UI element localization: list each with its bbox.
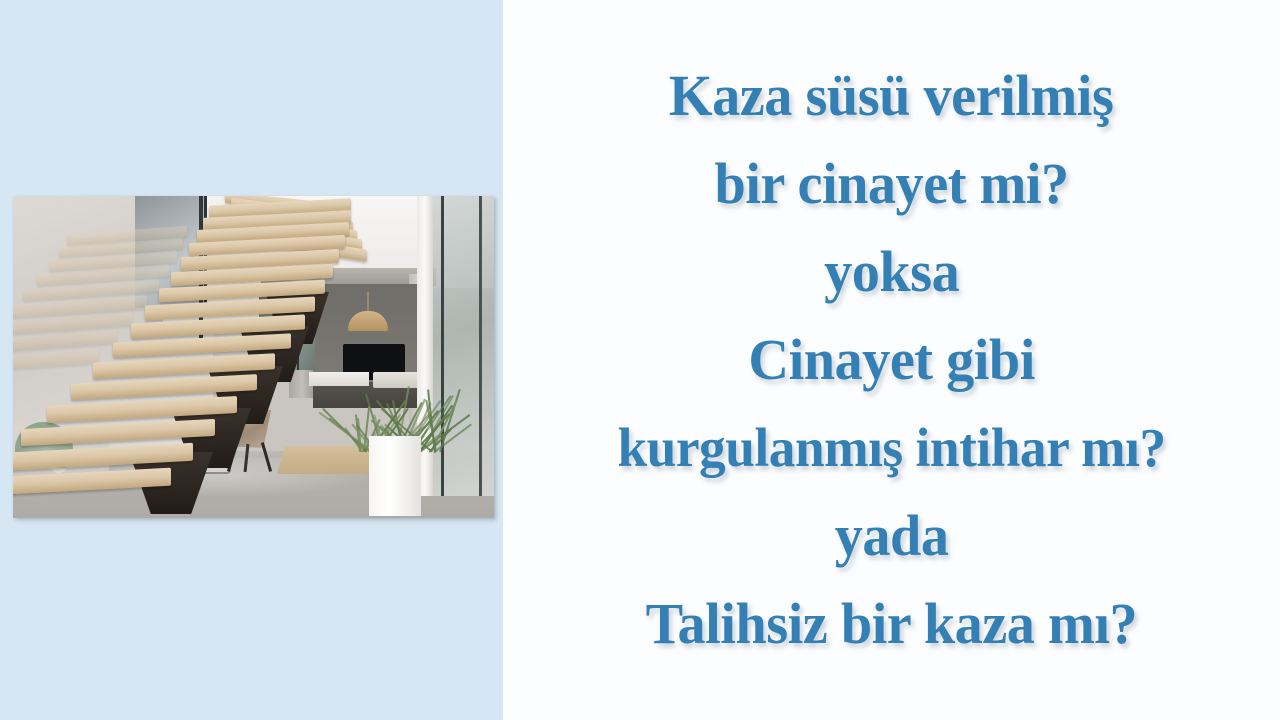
headline-text-block: Kaza süsü verilmiş bir cinayet mi? yoksa… bbox=[503, 0, 1280, 720]
headline-line-7: Talihsiz bir kaza mı? bbox=[646, 580, 1138, 668]
headline-line-5: kurgulanmış intihar mı? bbox=[617, 404, 1165, 492]
stair-tread bbox=[13, 349, 99, 374]
floating-staircase bbox=[13, 196, 494, 518]
headline-line-6: yada bbox=[835, 492, 949, 580]
interior-staircase-photo bbox=[13, 196, 494, 518]
headline-line-3: yoksa bbox=[824, 228, 959, 316]
left-blue-panel bbox=[0, 0, 503, 720]
headline-line-1: Kaza süsü verilmiş bbox=[669, 52, 1113, 140]
headline-line-2: bir cinayet mi? bbox=[714, 140, 1068, 228]
headline-line-4: Cinayet gibi bbox=[748, 316, 1034, 404]
stair-tread bbox=[13, 330, 117, 353]
